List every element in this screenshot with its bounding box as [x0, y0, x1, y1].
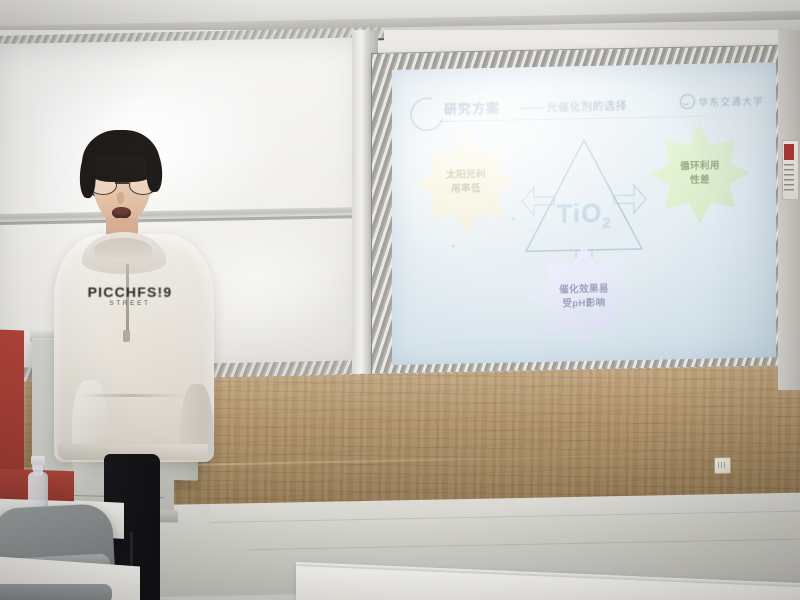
diagram-top-note: · · · [534, 123, 561, 133]
triangle-shape-icon [520, 133, 648, 260]
hoodie-graphic-subtext: STREET [84, 300, 176, 307]
tio2-formula: TiO2 [520, 197, 648, 234]
hoodie-fold-left [72, 380, 108, 500]
water-bottle-cap[interactable] [31, 456, 45, 465]
nose [117, 192, 124, 204]
hoodie-pocket-seam [78, 394, 184, 397]
slide-subtitle-text: 光催化剂的选择 [547, 100, 628, 114]
floor-tile-line [210, 510, 800, 523]
slide-badge-label: 催化效果易受pH影响 [547, 283, 621, 312]
wall-sign-header [784, 144, 794, 160]
red-wall-panel [0, 329, 24, 490]
slide-badge-label: 循环利用性差 [668, 159, 732, 188]
slide-badge-ph-sensitivity: 催化效果易受pH影响 [528, 243, 640, 351]
projection-screen: 研究方案 —— 光催化剂的选择 华东交通大学 · · · [392, 62, 776, 365]
presentation-slide: 研究方案 —— 光催化剂的选择 华东交通大学 · · · [392, 62, 776, 365]
wall-sign-text-lines [784, 164, 794, 194]
power-outlet-icon[interactable] [714, 457, 731, 474]
hoodie-zipper-pull [123, 330, 130, 342]
university-logo-text: 华东交通大学 [699, 93, 764, 108]
glasses-bridge [115, 182, 129, 184]
tio2-formula-main: TiO [556, 198, 602, 229]
slide-badge-recyclability: 循环利用性差 [650, 123, 750, 225]
slide-subtitle: —— 光催化剂的选择 [520, 97, 627, 115]
hoodie-graphic-text: PICCHFS!9 [84, 284, 176, 300]
slide-badge-label: 太阳光利用率低 [434, 168, 498, 197]
hood-inner [94, 238, 152, 262]
slide-speck [512, 218, 515, 221]
classroom-photo: 研究方案 —— 光催化剂的选择 华东交通大学 · · · [0, 0, 800, 600]
slide-title: 研究方案 [444, 98, 500, 118]
floor-tile-line [250, 538, 800, 550]
slide-speck [452, 245, 455, 248]
right-wall [778, 30, 800, 390]
slide-subtitle-dash: —— [520, 102, 543, 114]
tio2-diagram: · · · TiO2 [520, 133, 648, 260]
tio2-formula-sub: 2 [602, 215, 611, 232]
slide-badge-solar-utilization: 太阳光利用率低 [414, 129, 518, 235]
university-logo-mark-icon [680, 94, 695, 109]
university-logo: 华东交通大学 [680, 93, 764, 110]
chair-seat[interactable] [0, 584, 112, 600]
